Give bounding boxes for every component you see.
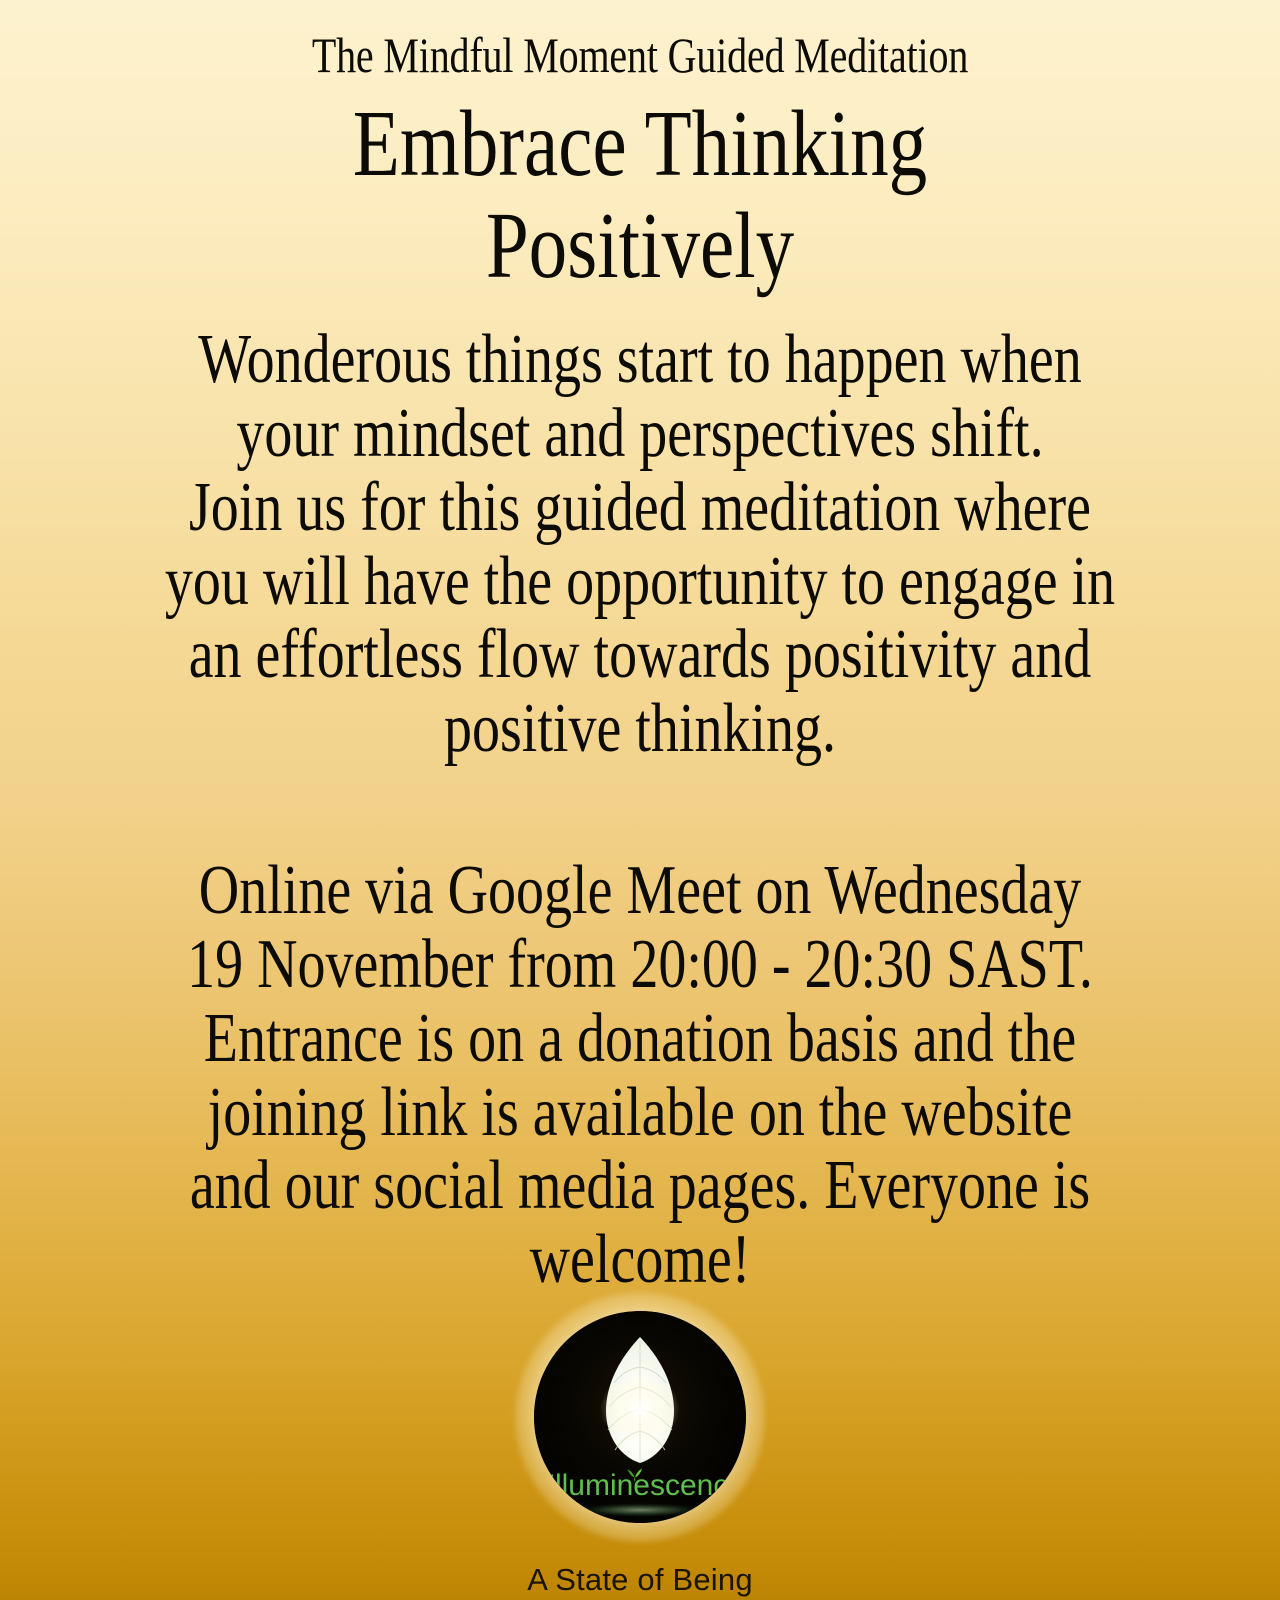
- logo-wordmark: Elluminescence: [535, 1469, 745, 1503]
- poster-canvas: The Mindful Moment Guided Meditation Emb…: [0, 0, 1280, 1600]
- paragraph-1-line-4: you will have the opportunity to engage …: [134, 545, 1145, 619]
- description-paragraph: Wonderous things start to happen when yo…: [128, 323, 1152, 766]
- poster-text-stack: The Mindful Moment Guided Meditation Emb…: [0, 0, 1280, 1297]
- paragraph-2-line-1: Online via Google Meet on Wednesday: [134, 854, 1145, 928]
- logo-glow-halo: Elluminescence: [515, 1292, 765, 1542]
- paragraph-2-line-5: and our social media pages. Everyone is: [134, 1149, 1145, 1223]
- poster-kicker: The Mindful Moment Guided Meditation: [128, 0, 1152, 80]
- paragraph-2-line-3: Entrance is on a donation basis and the: [134, 1002, 1145, 1076]
- headline-line-2: Positively: [115, 196, 1165, 298]
- paragraph-1-line-3: Join us for this guided meditation where: [134, 471, 1145, 545]
- event-details-paragraph: Online via Google Meet on Wednesday 19 N…: [128, 854, 1152, 1297]
- paragraph-1-line-2: your mindset and perspectives shift.: [134, 397, 1145, 471]
- page-title: Embrace Thinking Positively: [115, 94, 1165, 297]
- headline-line-1: Embrace Thinking: [115, 94, 1165, 196]
- paragraph-1-line-5: an effortless flow towards positivity an…: [134, 618, 1145, 692]
- elluminescence-leaf-logo: Elluminescence: [534, 1311, 746, 1523]
- paragraph-2-line-4: joining link is available on the website: [134, 1076, 1145, 1150]
- svg-text:Elluminescence: Elluminescence: [535, 1469, 745, 1502]
- paragraph-2-line-2: 19 November from 20:00 - 20:30 SAST.: [134, 928, 1145, 1002]
- paragraph-2-line-6: welcome!: [134, 1223, 1145, 1297]
- paragraph-1-line-6: positive thinking.: [134, 692, 1145, 766]
- paragraph-1-line-1: Wonderous things start to happen when: [134, 323, 1145, 397]
- brand-logo-block: Elluminescence A State of Being: [0, 1292, 1280, 1598]
- brand-tagline: A State of Being: [527, 1562, 753, 1598]
